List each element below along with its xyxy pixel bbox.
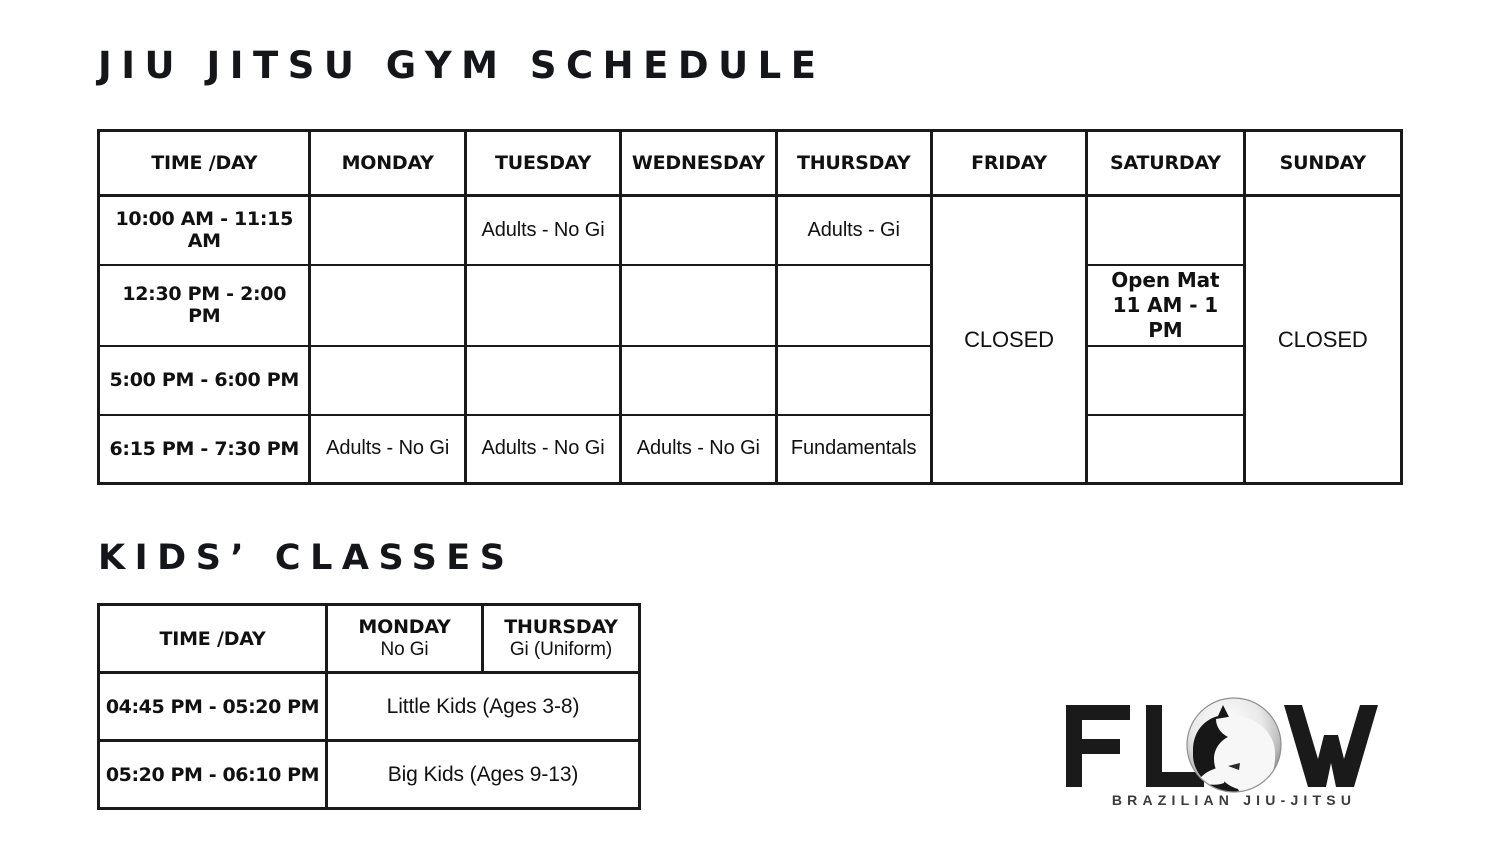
column-header-tuesday: TUESDAY: [465, 131, 620, 196]
time-slot: 04:45 PM - 05:20 PM: [99, 673, 327, 741]
column-header-saturday: SATURDAY: [1087, 131, 1244, 196]
class-cell-saturday: [1087, 415, 1244, 484]
class-cell-wednesday: [621, 346, 776, 415]
table-row: 05:20 PM - 06:10 PM Big Kids (Ages 9-13): [99, 741, 640, 809]
yin-yang-wolves-icon: [1187, 698, 1281, 803]
class-cell-tuesday: [465, 265, 620, 346]
class-cell-wednesday: [621, 196, 776, 265]
time-slot: 05:20 PM - 06:10 PM: [99, 741, 327, 809]
schedule-page: JIU JITSU GYM SCHEDULE TIME /DAY MONDAY …: [0, 0, 1500, 845]
day-sublabel: No Gi: [334, 639, 475, 661]
time-slot: 12:30 PM - 2:00 PM: [99, 265, 310, 346]
class-cell-saturday: [1087, 196, 1244, 265]
logo-letter-w: [1284, 705, 1378, 787]
closed-cell-friday: CLOSED: [931, 196, 1086, 484]
logo-letter-f: [1066, 705, 1130, 787]
class-cell-thursday: Adults - Gi: [776, 196, 931, 265]
column-header-friday: FRIDAY: [931, 131, 1086, 196]
column-header-thursday: THURSDAY Gi (Uniform): [483, 605, 640, 673]
column-header-time: TIME /DAY: [99, 605, 327, 673]
column-header-time: TIME /DAY: [99, 131, 310, 196]
time-slot: 6:15 PM - 7:30 PM: [99, 415, 310, 484]
kids-section-title: KIDS’ CLASSES: [98, 538, 514, 578]
class-cell-tuesday: Adults - No Gi: [465, 196, 620, 265]
class-cell-monday: [310, 265, 465, 346]
class-cell-thursday: [776, 346, 931, 415]
class-cell-monday: [310, 346, 465, 415]
class-cell-monday: [310, 196, 465, 265]
column-header-sunday: SUNDAY: [1244, 131, 1401, 196]
column-header-monday: MONDAY: [310, 131, 465, 196]
open-mat-cell: Open Mat 11 AM - 1 PM: [1087, 265, 1244, 346]
brand-logo: BRAZILIAN JIU-JITSU: [1062, 697, 1407, 809]
kids-schedule-table: TIME /DAY MONDAY No Gi THURSDAY Gi (Unif…: [97, 603, 641, 810]
column-header-wednesday: WEDNESDAY: [621, 131, 776, 196]
class-cell-kids: Big Kids (Ages 9-13): [327, 741, 640, 809]
class-cell-tuesday: [465, 346, 620, 415]
closed-cell-sunday: CLOSED: [1244, 196, 1401, 484]
column-header-monday: MONDAY No Gi: [327, 605, 483, 673]
table-row: 6:15 PM - 7:30 PM Adults - No Gi Adults …: [99, 415, 1402, 484]
class-cell-thursday: [776, 265, 931, 346]
time-slot: 5:00 PM - 6:00 PM: [99, 346, 310, 415]
day-label: THURSDAY: [490, 616, 632, 638]
class-cell-wednesday: [621, 265, 776, 346]
column-header-thursday: THURSDAY: [776, 131, 931, 196]
table-header-row: TIME /DAY MONDAY No Gi THURSDAY Gi (Unif…: [99, 605, 640, 673]
open-mat-time: 11 AM - 1 PM: [1113, 293, 1218, 342]
class-cell-saturday: [1087, 346, 1244, 415]
page-title: JIU JITSU GYM SCHEDULE: [98, 44, 826, 87]
day-label: MONDAY: [334, 616, 475, 638]
table-row: 10:00 AM - 11:15 AM Adults - No Gi Adult…: [99, 196, 1402, 265]
class-cell-wednesday: Adults - No Gi: [621, 415, 776, 484]
class-cell-kids: Little Kids (Ages 3-8): [327, 673, 640, 741]
open-mat-label: Open Mat: [1111, 268, 1219, 292]
time-slot: 10:00 AM - 11:15 AM: [99, 196, 310, 265]
class-cell-monday: Adults - No Gi: [310, 415, 465, 484]
main-schedule-table: TIME /DAY MONDAY TUESDAY WEDNESDAY THURS…: [97, 129, 1403, 485]
class-cell-tuesday: Adults - No Gi: [465, 415, 620, 484]
table-header-row: TIME /DAY MONDAY TUESDAY WEDNESDAY THURS…: [99, 131, 1402, 196]
logo-tagline: BRAZILIAN JIU-JITSU: [1112, 792, 1356, 808]
table-row: 5:00 PM - 6:00 PM: [99, 346, 1402, 415]
day-sublabel: Gi (Uniform): [490, 639, 632, 661]
class-cell-thursday: Fundamentals: [776, 415, 931, 484]
table-row: 12:30 PM - 2:00 PM Open Mat 11 AM - 1 PM: [99, 265, 1402, 346]
table-row: 04:45 PM - 05:20 PM Little Kids (Ages 3-…: [99, 673, 640, 741]
